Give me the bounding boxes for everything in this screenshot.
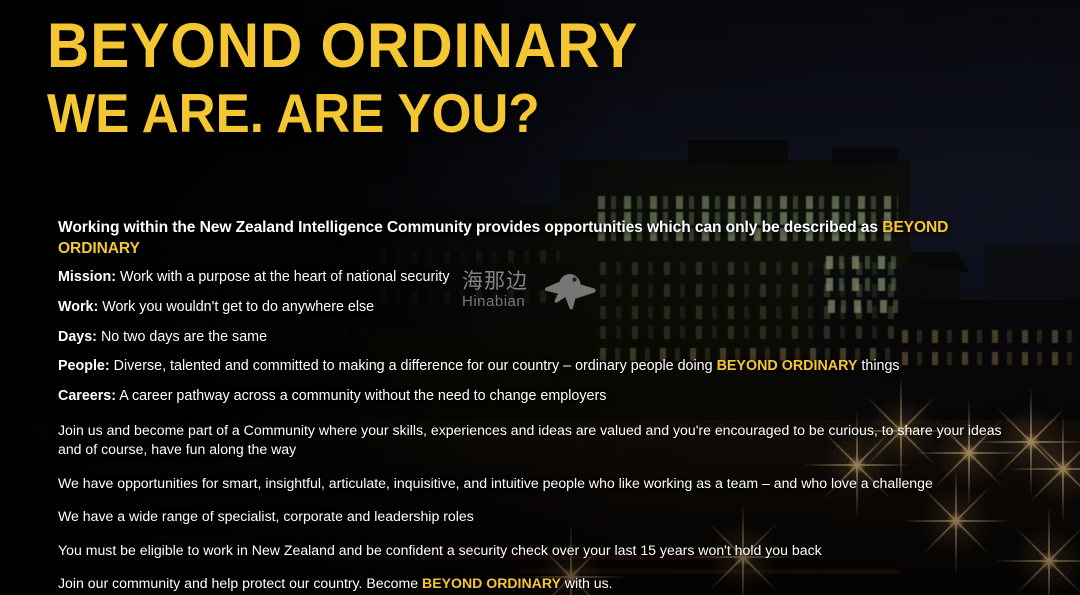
paragraph-highlight: BEYOND ORDINARY (422, 575, 561, 591)
list-item-label: Work: (58, 299, 98, 315)
list-item-text: Work you wouldn't get to do anywhere els… (102, 299, 374, 315)
headline-line-2: WE ARE. ARE YOU? (47, 87, 638, 140)
list-item-text: Work with a purpose at the heart of nati… (120, 269, 450, 285)
list-item: Careers: A career pathway across a commu… (58, 389, 1058, 403)
paragraph-text: Join our community and help protect our … (58, 575, 422, 591)
list-item-text: A career pathway across a community with… (119, 388, 606, 404)
paragraph-text-after: with us. (561, 575, 613, 591)
list-item-label: Days: (58, 329, 97, 345)
paragraph: We have opportunities for smart, insight… (58, 474, 1048, 493)
paragraph: We have a wide range of specialist, corp… (58, 507, 1068, 526)
intro-text: Working within the New Zealand Intellige… (58, 219, 882, 236)
headline-block: BEYOND ORDINARY WE ARE. ARE YOU? (47, 16, 683, 140)
list-item: Days: No two days are the same (58, 330, 1058, 344)
poster-canvas: BEYOND ORDINARY WE ARE. ARE YOU? Working… (0, 0, 1080, 595)
list-item: People: Diverse, talented and committed … (58, 359, 1058, 373)
poster-content: BEYOND ORDINARY WE ARE. ARE YOU? Working… (0, 0, 1080, 595)
list-item-text: Diverse, talented and committed to makin… (114, 358, 717, 374)
list-item-label: Mission: (58, 269, 116, 285)
list-item-text: No two days are the same (101, 329, 267, 345)
list-item: Mission: Work with a purpose at the hear… (58, 270, 1058, 284)
intro-statement: Working within the New Zealand Intellige… (58, 218, 1018, 260)
list-item-label: Careers: (58, 388, 116, 404)
paragraph-block: Join us and become part of a Community w… (58, 421, 1068, 595)
list-item-highlight: BEYOND ORDINARY (717, 358, 858, 374)
list-item-text-after: things (857, 358, 899, 374)
list-item: Work: Work you wouldn't get to do anywhe… (58, 300, 1058, 314)
list-item-label: People: (58, 358, 110, 374)
headline-line-1: BEYOND ORDINARY (47, 16, 638, 76)
paragraph: Join us and become part of a Community w… (58, 421, 1023, 460)
paragraph-closing: Join our community and help protect our … (58, 574, 1068, 593)
attribute-list: Mission: Work with a purpose at the hear… (58, 270, 1058, 419)
paragraph: You must be eligible to work in New Zeal… (58, 541, 1068, 560)
